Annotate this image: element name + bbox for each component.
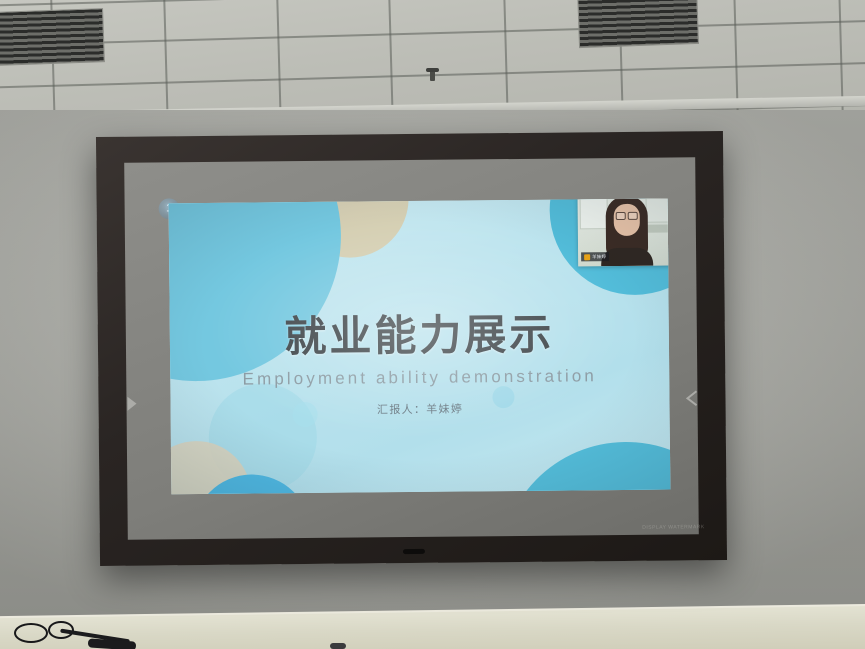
cable-loop-a <box>14 623 48 643</box>
glasses-icon <box>616 212 638 218</box>
desk-item-small <box>330 643 346 649</box>
classroom-photo-scene: 1 就业能力展示 Employment ability demonstratio <box>0 0 865 649</box>
ir-sensor <box>402 549 424 554</box>
webcam-name-badge: 羊妹婷 <box>581 252 609 261</box>
presentation-slide: 就业能力展示 Employment ability demonstration … <box>169 199 671 495</box>
slide-title-block: 就业能力展示 Employment ability demonstration … <box>170 311 670 420</box>
air-vent-right <box>577 0 699 48</box>
webcam-window-left <box>580 199 608 230</box>
decor-circle-cyan-bottomright <box>499 441 670 495</box>
slide-title-chinese: 就业能力展示 <box>170 311 669 362</box>
display-watermark: DISPLAY WATERMARK <box>642 524 705 531</box>
webcam-name-label: 羊妹婷 <box>592 254 606 260</box>
previous-slide-arrow[interactable] <box>681 387 703 409</box>
display-inner-bezel: 1 就业能力展示 Employment ability demonstratio <box>124 157 699 539</box>
mic-indicator-icon <box>584 254 590 260</box>
presenter-webcam-feed[interactable]: 羊妹婷 <box>577 199 670 267</box>
webcam-window-right <box>646 199 671 223</box>
air-vent-left <box>0 8 105 66</box>
projected-screen[interactable]: 就业能力展示 Employment ability demonstration … <box>169 199 671 495</box>
slide-title-english: Employment ability demonstration <box>170 366 669 391</box>
sprinkler-head <box>430 68 435 81</box>
slide-presenter-line: 汇报人：羊妹婷 <box>171 399 670 420</box>
wall-mounted-display[interactable]: 1 就业能力展示 Employment ability demonstratio <box>96 131 727 566</box>
next-slide-arrow[interactable] <box>120 393 142 415</box>
